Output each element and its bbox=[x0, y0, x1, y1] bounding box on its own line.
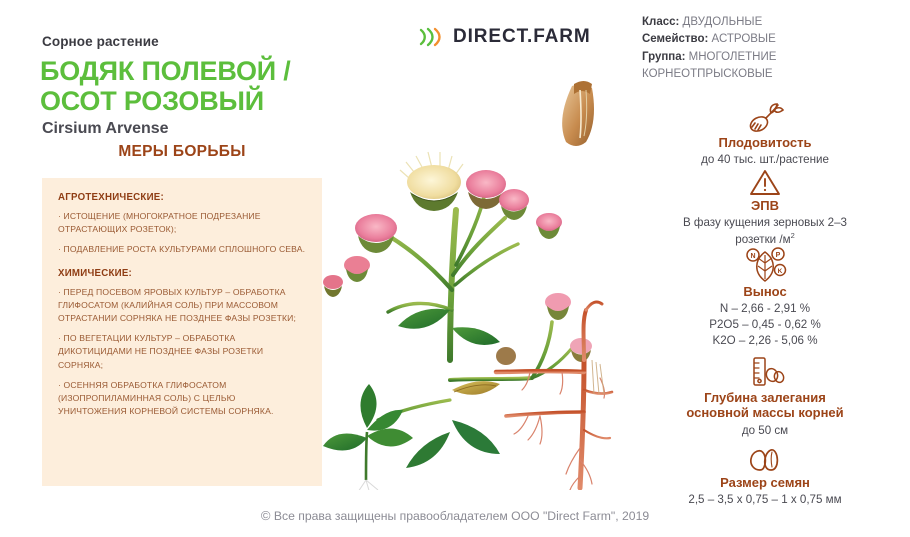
fact-title: Глубина залегания основной массы корней bbox=[620, 390, 910, 421]
removal-row-n: N – 2,66 - 2,91 % bbox=[620, 301, 910, 317]
removal-row-p: P2O5 – 0,45 - 0,62 % bbox=[620, 317, 910, 333]
fact-etp: ЭПВ В фазу кущения зерновых 2–3 розетки … bbox=[620, 163, 910, 247]
taxonomy-value: АСТРОВЫЕ bbox=[712, 33, 776, 45]
fact-title: Вынос bbox=[620, 284, 910, 299]
svg-text:P: P bbox=[776, 252, 781, 259]
fact-value: В фазу кущения зерновых 2–3 розетки /м2 bbox=[620, 215, 910, 246]
fact-value: до 50 см bbox=[620, 423, 910, 438]
right-column: Класс: ДВУДОЛЬНЫЕ Семейство: АСТРОВЫЕ Гр… bbox=[620, 0, 910, 500]
measures-heading: МЕРЫ БОРЬБЫ bbox=[42, 143, 322, 161]
fact-fertility: Плодовитость до 40 тыс. шт./растение bbox=[620, 100, 910, 168]
measures-item: · ПОДАВЛЕНИЕ РОСТА КУЛЬТУРАМИ СПЛОШНОГО … bbox=[58, 243, 306, 256]
fact-removal: N P K Вынос N – 2,66 - 2,91 % P2O5 – 0,4… bbox=[620, 249, 910, 349]
taxonomy-row-group: Группа: МНОГОЛЕТНИЕ bbox=[642, 49, 776, 66]
fact-value-line2: розетки /м2 bbox=[620, 231, 910, 247]
page-title: БОДЯК ПОЛЕВОЙ / ОСОТ РОЗОВЫЙ bbox=[40, 56, 330, 116]
ruler-seeds-icon bbox=[620, 355, 910, 389]
fact-value-line1: В фазу кущения зерновых 2–3 bbox=[620, 215, 910, 230]
taxonomy-key: Класс: bbox=[642, 16, 679, 28]
measures-item: · ОСЕННЯЯ ОБРАБОТКА ГЛИФОСАТОМ (ИЗОПРОПИ… bbox=[58, 379, 306, 418]
latin-name: Cirsium Arvense bbox=[42, 120, 169, 138]
taxonomy-key: Группа: bbox=[642, 51, 685, 63]
wave-chevrons-icon bbox=[418, 26, 444, 48]
cirsium-arvense-botanical-illustration bbox=[300, 60, 620, 490]
fact-value: 2,5 – 3,5 x 0,75 – 1 x 0,75 мм bbox=[620, 492, 910, 507]
taxonomy-value: ДВУДОЛЬНЫЕ bbox=[683, 16, 763, 28]
svg-text:K: K bbox=[778, 268, 783, 275]
winged-seed-icon bbox=[620, 100, 910, 134]
taxonomy-block: Класс: ДВУДОЛЬНЫЕ Семейство: АСТРОВЫЕ Гр… bbox=[642, 14, 776, 84]
measures-item: · ПО ВЕГЕТАЦИИ КУЛЬТУР – ОБРАБОТКА ДИКОТ… bbox=[58, 332, 306, 371]
npk-leaf-icon: N P K bbox=[620, 249, 910, 283]
direct-farm-logo[interactable]: DIRECT.FARM bbox=[418, 26, 591, 48]
taxonomy-key: Семейство: bbox=[642, 33, 708, 45]
fact-title-line1: Глубина залегания bbox=[620, 390, 910, 405]
svg-text:N: N bbox=[750, 253, 755, 260]
taxonomy-value: МНОГОЛЕТНИЕ bbox=[689, 51, 777, 63]
taxonomy-row-family: Семейство: АСТРОВЫЕ bbox=[642, 31, 776, 48]
taxonomy-row-group-cont: КОРНЕОТПРЫСКОВЫЕ bbox=[642, 66, 776, 83]
measures-item: · ПЕРЕД ПОСЕВОМ ЯРОВЫХ КУЛЬТУР – ОБРАБОТ… bbox=[58, 286, 306, 325]
fact-title: ЭПВ bbox=[620, 198, 910, 213]
removal-row-k: K2O – 2,26 - 5,06 % bbox=[620, 333, 910, 349]
fact-title: Размер семян bbox=[620, 475, 910, 490]
copyright-icon: © bbox=[261, 508, 271, 523]
fact-depth: Глубина залегания основной массы корней … bbox=[620, 355, 910, 438]
taxonomy-row-class: Класс: ДВУДОЛЬНЫЕ bbox=[642, 14, 776, 31]
left-column: Сорное растение БОДЯК ПОЛЕВОЙ / ОСОТ РОЗ… bbox=[0, 0, 340, 500]
measures-box: АГРОТЕХНИЧЕСКИЕ: · ИСТОЩЕНИЕ (МНОГОКРАТН… bbox=[42, 178, 322, 486]
fact-value: N – 2,66 - 2,91 % P2O5 – 0,45 - 0,62 % K… bbox=[620, 301, 910, 349]
footer-copyright: © Все права защищены правообладателем ОО… bbox=[0, 508, 910, 523]
footer-text: Все права защищены правообладателем ООО … bbox=[274, 509, 649, 523]
fact-title-line2: основной массы корней bbox=[620, 405, 910, 420]
kicker-label: Сорное растение bbox=[42, 34, 159, 49]
warning-triangle-icon bbox=[620, 163, 910, 197]
measures-group-heading-agrotech: АГРОТЕХНИЧЕСКИЕ: bbox=[58, 192, 306, 203]
fact-seed-size: Размер семян 2,5 – 3,5 x 0,75 – 1 x 0,75… bbox=[620, 440, 910, 508]
two-seeds-icon bbox=[620, 440, 910, 474]
taxonomy-value: КОРНЕОТПРЫСКОВЫЕ bbox=[642, 68, 773, 80]
logo-wordmark: DIRECT.FARM bbox=[453, 26, 591, 48]
measures-group-heading-chemical: ХИМИЧЕСКИЕ: bbox=[58, 268, 306, 279]
measures-item: · ИСТОЩЕНИЕ (МНОГОКРАТНОЕ ПОДРЕЗАНИЕ ОТР… bbox=[58, 210, 306, 236]
fact-title: Плодовитость bbox=[620, 135, 910, 150]
